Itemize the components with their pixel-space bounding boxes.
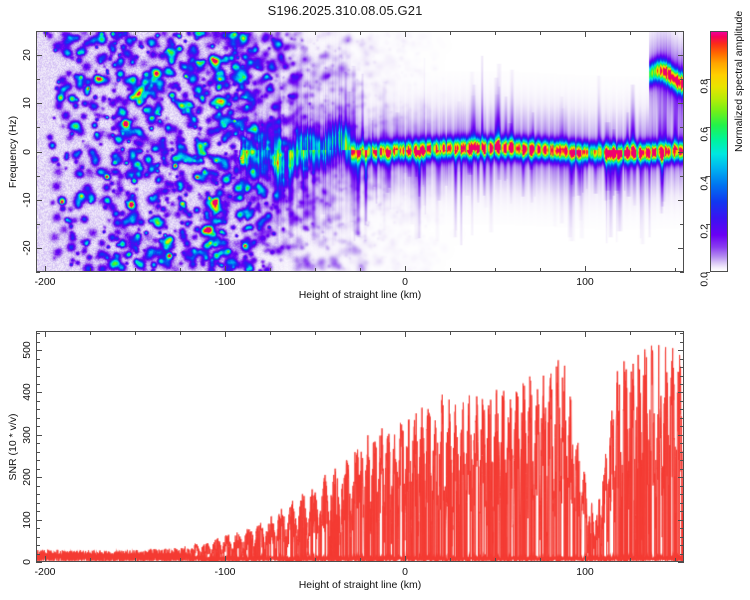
figure-title: S196.2025.310.08.05.G21 [0,3,690,18]
y-tick-label: 500 [21,341,33,359]
figure-root: S196.2025.310.08.05.G21 -200-1000100-20-… [0,0,750,600]
y-tick-minor [680,562,684,563]
y-tick-minor [36,562,40,563]
y-tick-label: 300 [21,426,33,444]
colorbar-ticks: 0.00.20.40.60.8 [710,31,728,272]
y-tick-minor [36,272,40,273]
snr-panel [36,331,684,562]
colorbar-tick-label: 0.0 [699,272,711,287]
snr-yaxis-title: SNR (10 * v/v) [7,413,19,480]
y-tick-label: -10 [21,192,33,207]
y-tick-minor [680,272,684,273]
y-tick-label: 0 [21,149,33,155]
snr-xaxis-title: Height of straight line (km) [299,579,422,591]
y-tick-label: 100 [21,511,33,529]
x-tick-label: 0 [402,566,408,578]
spectrogram-panel [36,31,684,272]
colorbar-tick-label: 0.8 [699,79,711,94]
colorbar-tick-label: 0.2 [699,224,711,239]
x-tick-label: 0 [402,276,408,288]
snr-canvas [37,332,683,561]
spectrogram-canvas [37,32,683,271]
x-tick-label: 100 [576,276,594,288]
y-tick-label: 10 [21,97,33,109]
y-tick-major [36,562,42,563]
y-tick-label: 200 [21,468,33,486]
y-tick-label: 20 [21,49,33,61]
y-tick-major [678,562,684,563]
y-tick-label: 0 [21,559,33,565]
colorbar-tick-label: 0.6 [699,127,711,142]
x-tick-label: 100 [576,566,594,578]
colorbar-tick-label: 0.4 [699,176,711,191]
colorbar-title: Normalized spectral amplitude [733,11,745,152]
x-tick-label: -100 [214,276,235,288]
spectrogram-yaxis-title: Frequency (Hz) [7,115,19,187]
x-tick-label: -200 [34,276,55,288]
x-tick-label: -100 [214,566,235,578]
y-tick-label: 400 [21,383,33,401]
y-tick-label: -20 [21,240,33,255]
spectrogram-xaxis-title: Height of straight line (km) [299,289,422,301]
x-tick-label: -200 [34,566,55,578]
